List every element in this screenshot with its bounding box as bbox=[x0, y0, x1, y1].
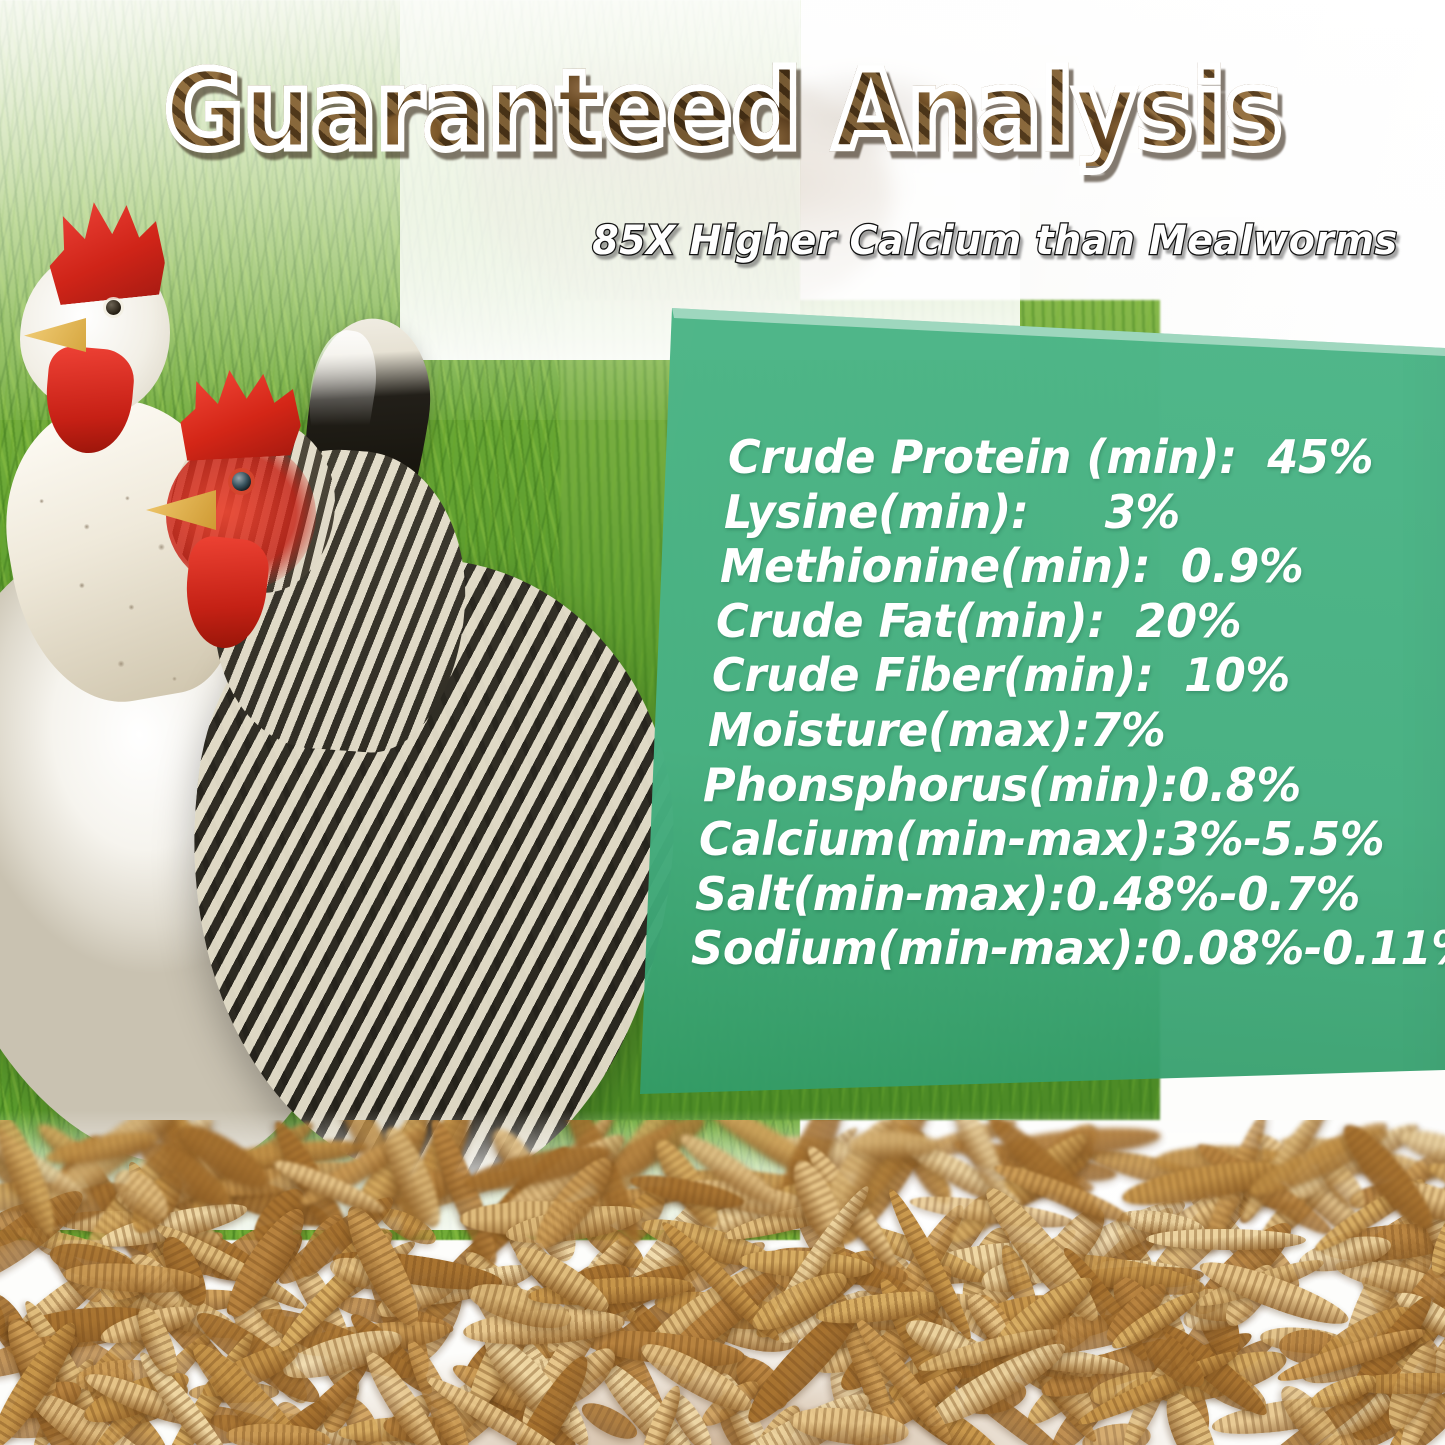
page-title-container: Guaranteed Analysis bbox=[0, 58, 1445, 166]
analysis-row: Methionine(min): 0.9% bbox=[720, 539, 1303, 593]
page-subtitle-container: 85X Higher Calcium than Mealworms bbox=[0, 218, 1445, 264]
product-infographic: Crude Protein (min): 45%Lysine(min): 3%M… bbox=[0, 0, 1445, 1445]
analysis-row: Sodium(min-max):0.08%-0.11% bbox=[691, 921, 1445, 975]
analysis-row: Crude Fiber(min): 10% bbox=[712, 648, 1290, 702]
analysis-row: Calcium(min-max):3%-5.5% bbox=[699, 812, 1384, 866]
analysis-row: Crude Fat(min): 20% bbox=[716, 594, 1241, 648]
analysis-row: Moisture(max):7% bbox=[708, 703, 1165, 757]
analysis-row: Salt(min-max):0.48%-0.7% bbox=[695, 867, 1360, 921]
analysis-row: Crude Protein (min): 45% bbox=[728, 430, 1373, 484]
dried-larvae-pile bbox=[0, 1120, 1445, 1445]
page-subtitle: 85X Higher Calcium than Mealworms bbox=[592, 218, 1397, 264]
analysis-row: Phonsphorus(min):0.8% bbox=[703, 758, 1301, 812]
analysis-row: Lysine(min): 3% bbox=[724, 485, 1180, 539]
page-title: Guaranteed Analysis bbox=[164, 58, 1282, 166]
